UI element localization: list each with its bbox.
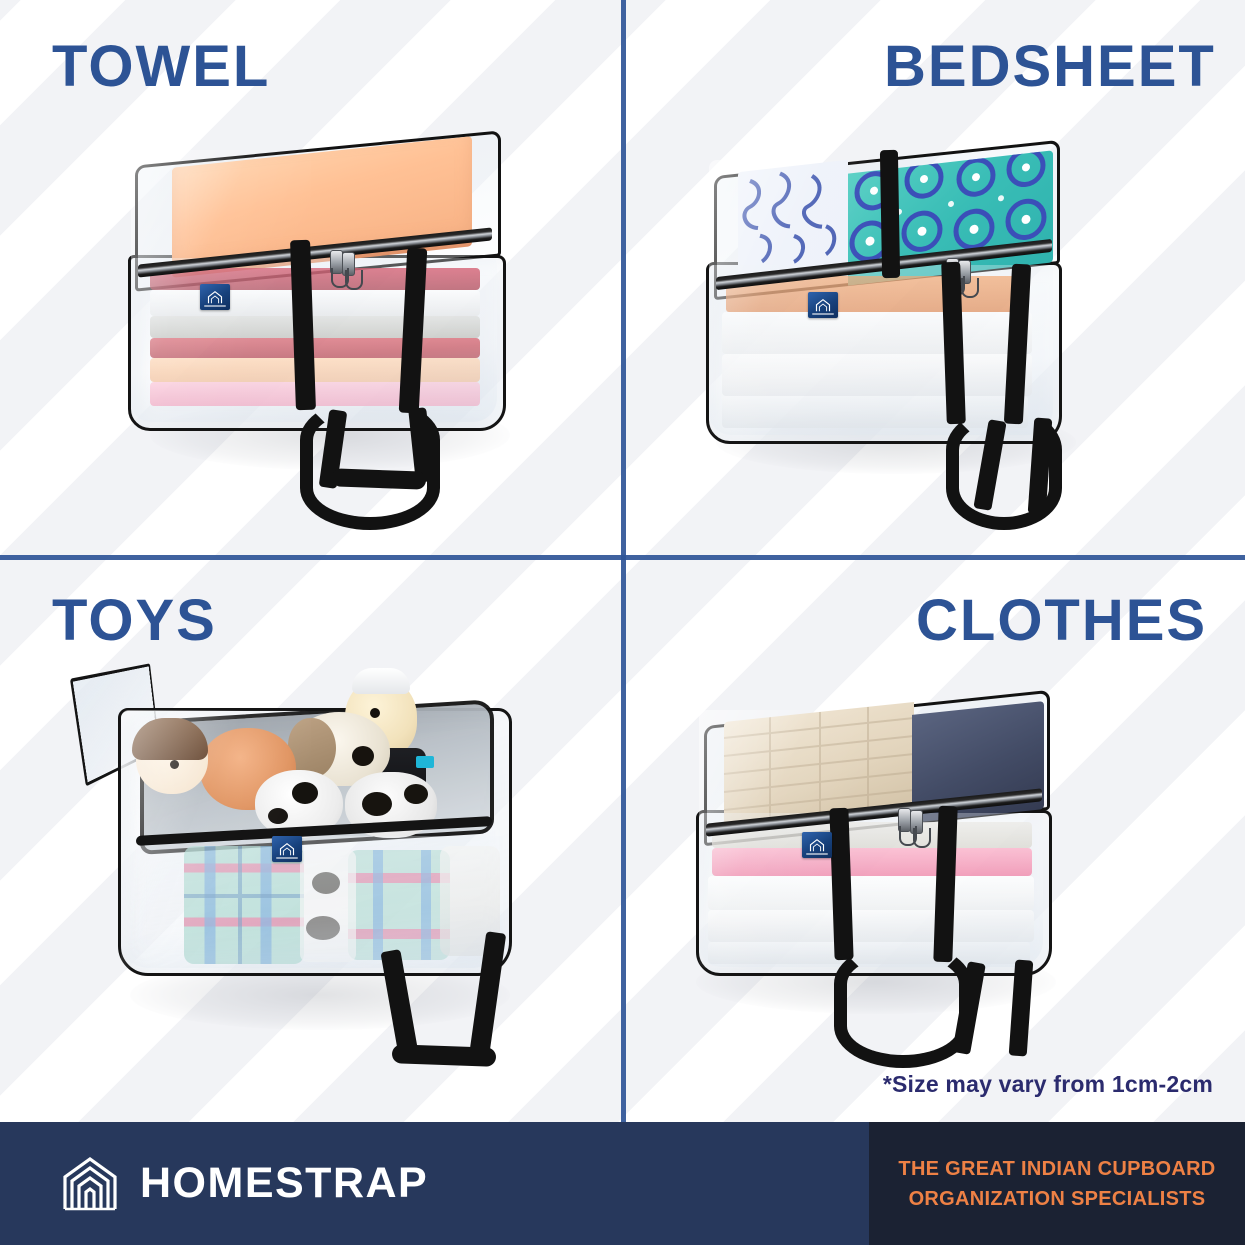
tag-text-line [276, 857, 298, 859]
quadrant-bedsheet: BEDSHEET [626, 0, 1245, 555]
cow-spot [292, 782, 318, 804]
storage-bag-towel-image [0, 0, 621, 555]
storage-bag-toys-image [0, 560, 621, 1122]
bag-handle-loop[interactable] [834, 942, 972, 1068]
footer-bar: HOMESTRAP THE GREAT INDIAN CUPBOARD ORGA… [0, 1122, 1245, 1245]
product-infographic-page: TOWEL [0, 0, 1245, 1245]
homestrap-house-logo-icon [62, 1156, 118, 1212]
popeye-sailor-cap [352, 668, 410, 694]
footer-brand-section: HOMESTRAP [0, 1122, 869, 1245]
homestrap-house-logo-icon [809, 839, 825, 852]
floral-pattern [738, 160, 848, 281]
dog-nose [352, 746, 374, 766]
quadrant-toys: TOYS [0, 560, 621, 1122]
storage-bag-bedsheet-image [626, 0, 1245, 555]
cow-spot [362, 792, 392, 816]
doll-eye [170, 760, 179, 769]
storage-bag-clothes-image [626, 560, 1245, 1122]
bag-handle-bottom[interactable] [392, 1044, 497, 1067]
size-disclaimer: *Size may vary from 1cm-2cm [883, 1071, 1213, 1098]
homestrap-house-logo-icon [279, 843, 295, 856]
tagline-line-2: ORGANIZATION SPECIALISTS [909, 1184, 1206, 1214]
bedsheet-blue-floral [738, 160, 848, 281]
brand-tag [802, 832, 832, 858]
popeye-collar [416, 756, 434, 768]
tagline-line-1: THE GREAT INDIAN CUPBOARD [898, 1154, 1215, 1184]
popeye-face-eye [370, 708, 380, 718]
homestrap-house-logo-icon [207, 291, 223, 304]
brand-name: HOMESTRAP [140, 1162, 428, 1205]
cow-nose [268, 808, 288, 824]
tag-text-line [806, 853, 828, 855]
brand-tag [808, 292, 838, 318]
footer-tagline-section: THE GREAT INDIAN CUPBOARD ORGANIZATION S… [869, 1122, 1245, 1245]
bag-handle-bottom[interactable] [332, 468, 427, 489]
homestrap-house-logo-icon [815, 299, 831, 312]
zipper-loop[interactable] [913, 828, 931, 848]
cow-spot [404, 784, 428, 804]
quadrant-towel: TOWEL [0, 0, 621, 555]
bag-front-panel [121, 836, 503, 968]
quadrant-clothes: CLOTHES [626, 560, 1245, 1122]
brand-tag [200, 284, 230, 310]
zipper-loop[interactable] [345, 270, 363, 290]
brand-tag [272, 836, 302, 862]
bag-handle-strap[interactable] [880, 150, 900, 278]
tag-text-line [204, 305, 226, 307]
bag-front-panel [699, 813, 1043, 967]
zipper-loop[interactable] [961, 278, 979, 298]
tag-text-line [812, 313, 834, 315]
